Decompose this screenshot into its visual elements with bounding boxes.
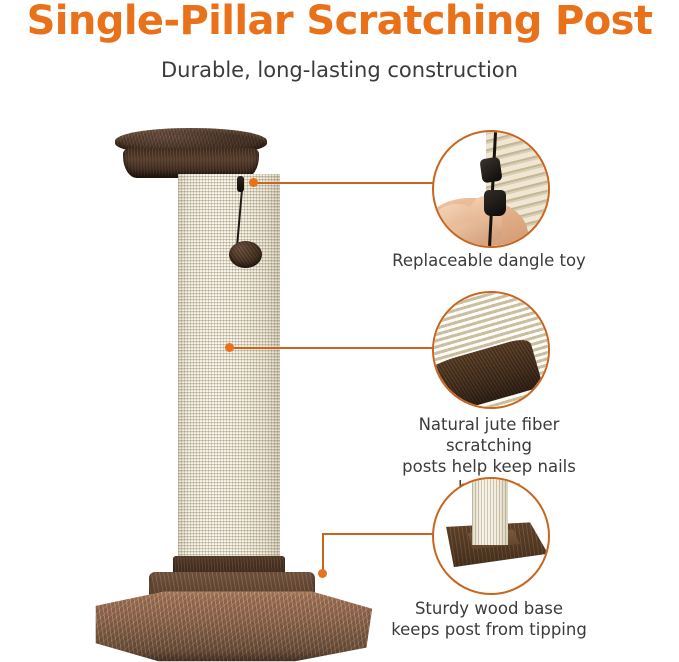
page-subtitle: Durable, long-lasting construction — [0, 58, 679, 82]
callout-circle-wood-base — [432, 477, 550, 595]
dangle-toy-pom-pom — [229, 241, 262, 268]
leader-line-jute-fiber — [229, 347, 433, 349]
dangle-toy-clip — [237, 176, 244, 192]
page-title: Single-Pillar Scratching Post — [0, 0, 679, 44]
leader-line-wood-base-horizontal — [322, 533, 433, 535]
infographic-canvas: Single-Pillar Scratching Post Durable, l… — [0, 0, 679, 649]
callout-photo-wood-base — [434, 479, 548, 593]
jute-wrapped-post — [178, 174, 280, 564]
marker-dot-dangle-toy — [249, 178, 258, 187]
post-stub-detail — [472, 479, 508, 545]
marker-dot-wood-base — [318, 569, 327, 578]
callout-photo-dangle-toy — [434, 132, 548, 246]
product-image — [55, 110, 395, 640]
plush-wood-base-slab — [90, 590, 375, 662]
marker-dot-jute-fiber — [225, 343, 234, 352]
hand-finger-lower — [450, 222, 502, 244]
clip-connector-top — [479, 157, 502, 184]
callout-circle-jute-fiber — [432, 291, 550, 409]
callout-photo-jute-fiber — [434, 293, 548, 407]
callout-circle-dangle-toy — [432, 130, 550, 248]
clip-connector-bottom — [484, 190, 506, 216]
callout-caption-dangle-toy: Replaceable dangle toy — [384, 250, 594, 271]
callout-caption-wood-base: Sturdy wood base keeps post from tipping — [384, 598, 594, 640]
leader-line-dangle-toy — [253, 182, 433, 184]
